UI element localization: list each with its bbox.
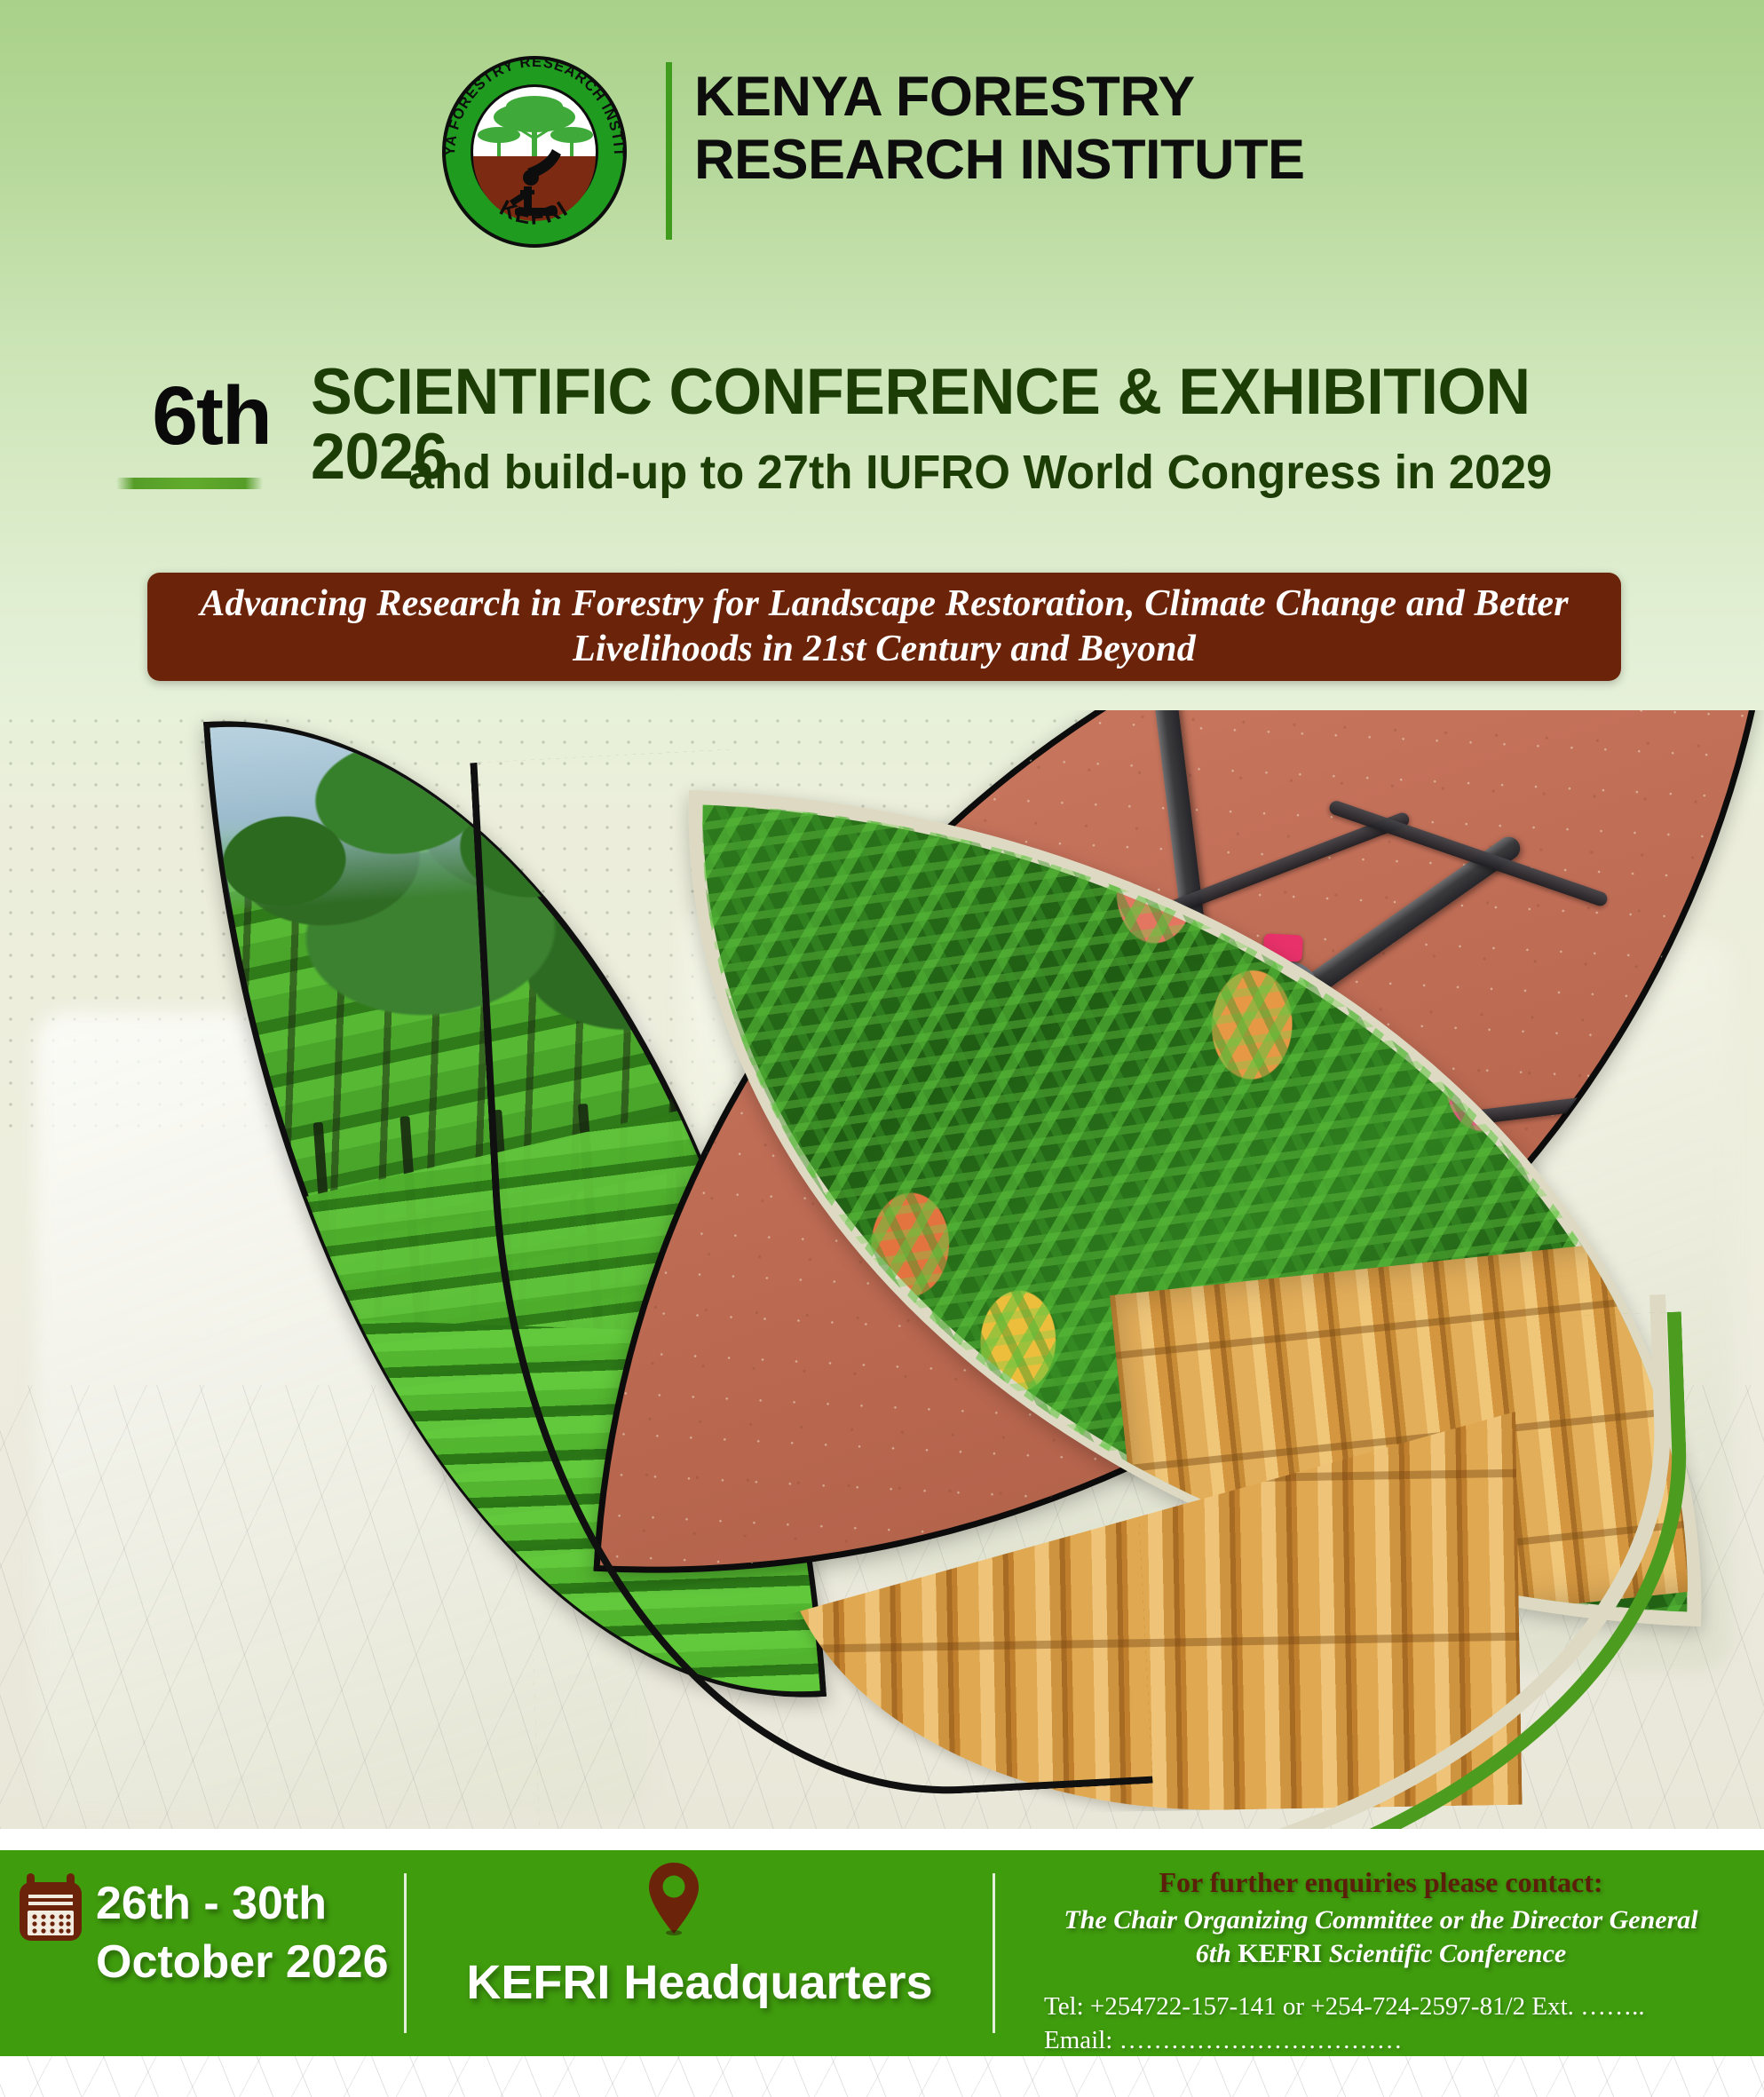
org-line-1: KENYA FORESTRY [694,66,1582,129]
theme-text: Advancing Research in Forestry for Lands… [147,582,1621,672]
contact-telephone[interactable]: Tel: +254722-157-141 or +254-724-2597-81… [1044,1992,1736,2022]
conference-poster: KENYA FORESTRY RESEARCH INSTITUTE KEFRI … [0,0,1764,2097]
calendar-icon [16,1870,85,1944]
contact-email[interactable]: Email: …………………………… [1044,2026,1736,2055]
ordinal-brush-underline [116,478,263,489]
footer-divider-2 [993,1873,995,2033]
event-dates: 26th - 30th October 2026 [96,1875,389,1991]
edition-ordinal: 6th [114,368,309,463]
footer-venue-block: KEFRI Headquarters [407,1850,993,2056]
theme-banner: Advancing Research in Forestry for Lands… [147,573,1621,681]
event-dates-line2: October 2026 [96,1934,389,1992]
contact-ordinal: 6th [1196,1939,1231,1968]
contact-heading: For further enquiries please contact: [998,1866,1764,1899]
contact-line-2: 6th KEFRI Scientific Conference [998,1939,1764,1969]
event-dates-line1: 26th - 30th [96,1875,389,1934]
org-line-2: RESEARCH INSTITUTE [694,129,1582,192]
poster-footer: 26th - 30th October 2026 KEFRI Headquart… [0,1850,1764,2056]
contact-conference: Scientific Conference [1329,1939,1566,1968]
conference-subtitle: and build-up to 27th IUFRO World Congres… [408,448,1631,496]
contact-acronym: KEFRI [1238,1939,1322,1968]
event-venue: KEFRI Headquarters [407,1955,993,2010]
contact-line-1: The Chair Organizing Committee or the Di… [998,1905,1764,1935]
bamboo-node [782,1632,1519,1652]
organization-name: KENYA FORESTRY RESEARCH INSTITUTE [694,66,1582,191]
bamboo-node [1115,1289,1720,1359]
bottom-line-art-strip [0,2056,1764,2097]
image-collage: 9:37 ▾ MISSION 15B #JazaMiti JAZAMITI Po… [0,710,1764,1829]
footer-contact-block: For further enquiries please contact: Th… [998,1850,1764,2056]
line-art-pattern [0,2056,1764,2097]
poster-header: KENYA FORESTRY RESEARCH INSTITUTE KEFRI … [0,46,1764,250]
footer-date-block: 26th - 30th October 2026 [0,1850,404,2056]
location-pin-icon [646,1861,701,1937]
kefri-logo: KENYA FORESTRY RESEARCH INSTITUTE KEFRI [431,53,637,250]
white-gap [0,1829,1764,1850]
header-divider [666,62,672,240]
